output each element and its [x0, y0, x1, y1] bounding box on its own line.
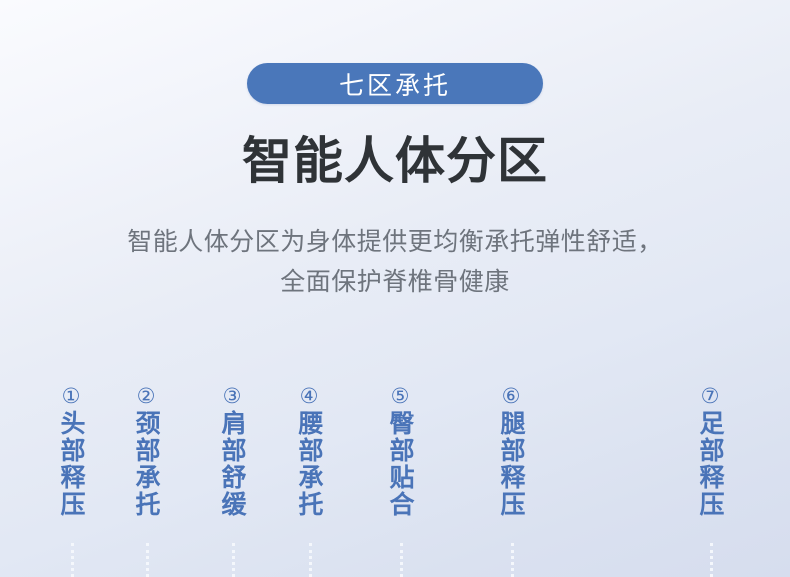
zone-number-4: ④ — [300, 385, 319, 408]
zone-dotted-line-7 — [710, 543, 713, 577]
zone-item-3: ③ 肩部舒缓 — [209, 385, 255, 518]
zone-label-3: 肩部舒缓 — [218, 410, 246, 518]
zone-dotted-line-2 — [146, 543, 149, 577]
zone-item-4: ④ 腰部承托 — [286, 385, 332, 518]
zone-number-7: ⑦ — [701, 385, 720, 408]
zone-label-7: 足部释压 — [696, 410, 724, 518]
zone-number-2: ② — [137, 385, 156, 408]
zone-dotted-line-5 — [400, 543, 403, 577]
zone-label-6: 腿部释压 — [497, 410, 525, 518]
zone-item-6: ⑥ 腿部释压 — [488, 385, 534, 518]
zone-item-7: ⑦ 足部释压 — [687, 385, 733, 518]
zone-label-4: 腰部承托 — [295, 410, 323, 518]
zone-number-1: ① — [62, 385, 81, 408]
zone-dotted-line-4 — [309, 543, 312, 577]
zone-label-2: 颈部承托 — [132, 410, 160, 518]
zone-label-1: 头部释压 — [57, 410, 85, 518]
zone-list: ① 头部释压 ② 颈部承托 ③ 肩部舒缓 ④ 腰部承托 ⑤ 臀部贴合 ⑥ 腿部释… — [0, 0, 790, 577]
zone-dotted-line-3 — [232, 543, 235, 577]
zone-dotted-line-6 — [511, 543, 514, 577]
poster-canvas: 七区承托 智能人体分区 智能人体分区为身体提供更均衡承托弹性舒适， 全面保护脊椎… — [0, 0, 790, 577]
zone-label-5: 臀部贴合 — [386, 410, 414, 518]
zone-number-6: ⑥ — [502, 385, 521, 408]
zone-number-3: ③ — [223, 385, 242, 408]
zone-dotted-line-1 — [71, 543, 74, 577]
zone-item-1: ① 头部释压 — [48, 385, 94, 518]
zone-item-2: ② 颈部承托 — [123, 385, 169, 518]
zone-number-5: ⑤ — [391, 385, 410, 408]
zone-item-5: ⑤ 臀部贴合 — [377, 385, 423, 518]
